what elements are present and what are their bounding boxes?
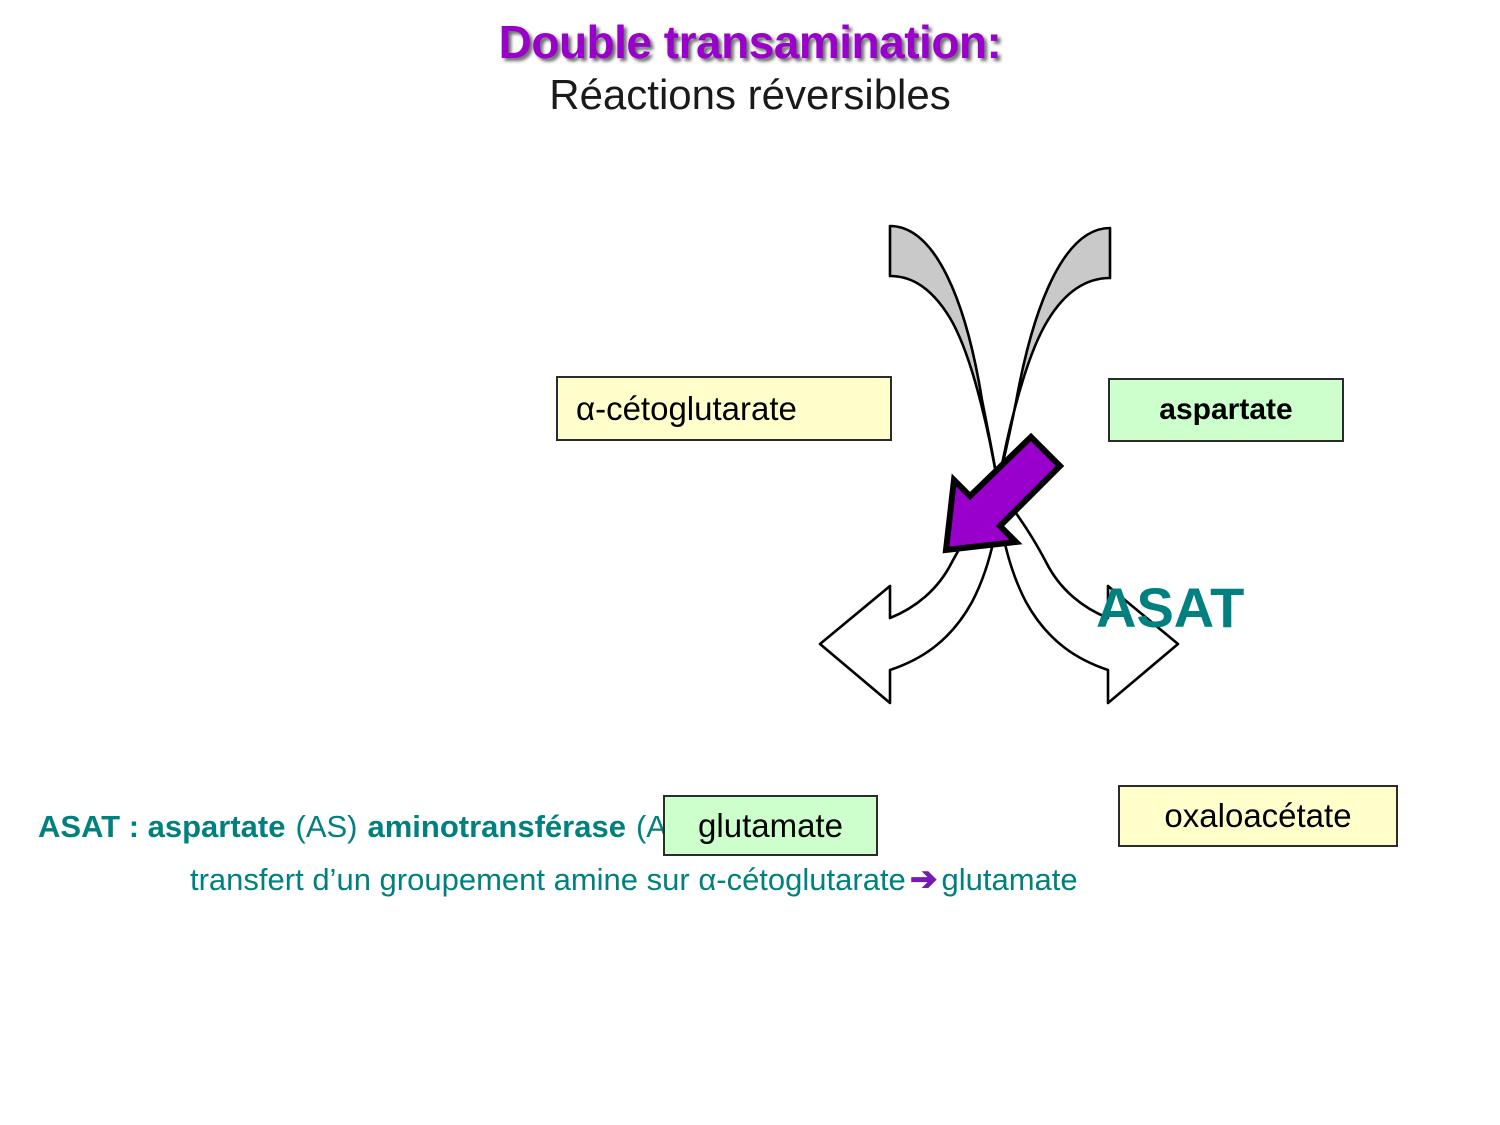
caption-aminotransferase: aminotransférase [358, 809, 626, 844]
slide-title-block: Double transamination: Réactions réversi… [0, 18, 1500, 119]
page-subtitle: Réactions réversibles [0, 70, 1500, 120]
metabolite-box-ketoglutarate: α-cétoglutarate [556, 376, 892, 441]
caption-product-glutamate: glutamate [941, 862, 1077, 897]
metabolite-box-oxaloacetate: oxaloacétate [1118, 785, 1398, 847]
caption-line-2: transfert d’un groupement amine sur α-cé… [38, 852, 1458, 905]
caption-as-abbrev: (AS) [286, 809, 358, 844]
reaction-diagram: α-cétoglutarate aspartate glutamate oxal… [0, 150, 1500, 770]
caption-transfer-text: transfert d’un groupement amine sur α-cé… [190, 862, 906, 897]
metabolite-box-glutamate: glutamate [663, 795, 878, 856]
metabolite-box-aspartate: aspartate [1108, 378, 1344, 442]
metabolite-label-ketoglutarate: α-cétoglutarate [576, 390, 797, 428]
curve-aspartate-in [999, 228, 1110, 481]
metabolite-label-oxaloacetate: oxaloacétate [1164, 797, 1351, 835]
caption-asat-definition: ASAT : aspartate [38, 809, 286, 844]
transamination-crossing-arrows [0, 150, 1500, 770]
metabolite-label-glutamate: glutamate [698, 807, 843, 845]
metabolite-label-aspartate: aspartate [1159, 393, 1292, 427]
enzyme-label-asat: ASAT [1096, 575, 1244, 640]
right-arrow-icon: ➔ [906, 860, 942, 897]
page-title: Double transamination: [0, 18, 1500, 68]
curve-ketoglutarate-in [890, 226, 997, 480]
